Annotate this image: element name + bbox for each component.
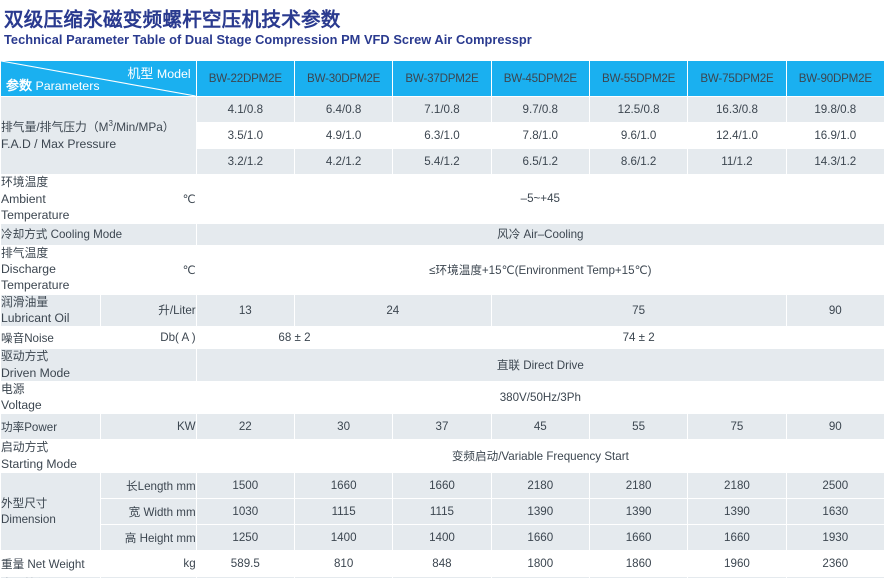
cell-fad-2-3: 6.5/1.2 (491, 149, 589, 175)
row-label-starting-mode: 启动方式 Starting Mode (1, 440, 197, 473)
page-title-zh: 双级压缩永磁变频螺杆空压机技术参数 (4, 3, 341, 32)
table-header-row: 机型 Model 参数 Parameters BW-22DPM2E BW-30D… (1, 61, 885, 97)
cell-discharge-temperature-value: ≤环境温度+15℃(Environment Temp+15℃) (196, 245, 884, 294)
row-label-ambient-temperature-zh: 环境温度 (1, 175, 100, 191)
cell-net-weight-3: 1800 (491, 551, 589, 577)
row-unit-power: KW (101, 414, 196, 440)
cell-fad-0-4: 12.5/0.8 (589, 97, 687, 123)
cell-net-weight-5: 1960 (688, 551, 786, 577)
table-row-dimension-length: 外型尺寸 Dimension 长Length mm 1500 1660 1660… (1, 473, 885, 499)
row-unit-discharge-temperature: ℃ (101, 245, 196, 294)
cell-width-6: 1630 (786, 499, 884, 525)
cell-height-5: 1660 (688, 525, 786, 551)
table-row-net-weight: 重量 Net Weight kg 589.5 810 848 1800 1860… (1, 551, 885, 577)
cell-cooling-mode-value: 风冷 Air–Cooling (196, 223, 884, 245)
header-corner-cell: 机型 Model 参数 Parameters (1, 61, 197, 97)
header-model-bw-37dpm2e: BW-37DPM2E (393, 61, 491, 97)
cell-fad-1-6: 16.9/1.0 (786, 123, 884, 149)
row-label-net-weight: 重量 Net Weight (1, 551, 101, 577)
table-row-fad-1: 排气量/排气压力（M3/Min/MPa） F.A.D / Max Pressur… (1, 97, 885, 123)
cell-length-0: 1500 (196, 473, 294, 499)
row-sublabel-length: 长Length mm (101, 473, 196, 499)
cell-power-3: 45 (491, 414, 589, 440)
cell-fad-1-0: 3.5/1.0 (196, 123, 294, 149)
row-label-starting-mode-en: Starting Mode (1, 456, 196, 472)
cell-lubricant-oil-1: 24 (294, 294, 491, 327)
cell-length-6: 2500 (786, 473, 884, 499)
cell-net-weight-6: 2360 (786, 551, 884, 577)
cell-length-3: 2180 (491, 473, 589, 499)
row-unit-net-weight: kg (101, 551, 196, 577)
header-model-bw-30dpm2e: BW-30DPM2E (294, 61, 392, 97)
cell-fad-0-0: 4.1/0.8 (196, 97, 294, 123)
cell-net-weight-1: 810 (294, 551, 392, 577)
cell-ambient-temperature-value: –5~+45 (196, 175, 884, 224)
row-label-fad-zh: 排气量/排气压力（M3/Min/MPa） (1, 119, 196, 135)
cell-height-6: 1930 (786, 525, 884, 551)
cell-power-4: 55 (589, 414, 687, 440)
table-row-noise: 噪音Noise Db( A ) 68 ± 2 74 ± 2 (1, 327, 885, 349)
cell-net-weight-2: 848 (393, 551, 491, 577)
cell-noise-0: 68 ± 2 (196, 327, 393, 349)
row-label-dimension-en: Dimension (1, 512, 100, 528)
row-label-lubricant-oil-zh: 润滑油量 (1, 295, 100, 311)
row-unit-ambient-temperature: ℃ (101, 175, 196, 224)
cell-width-2: 1115 (393, 499, 491, 525)
cell-power-0: 22 (196, 414, 294, 440)
row-label-starting-mode-zh: 启动方式 (1, 440, 196, 456)
table-row-dimension-width: 宽 Width mm 1030 1115 1115 1390 1390 1390… (1, 499, 885, 525)
row-label-ambient-temperature: 环境温度 Ambient Temperature (1, 175, 101, 224)
cell-lubricant-oil-0: 13 (196, 294, 294, 327)
row-sublabel-height: 高 Height mm (101, 525, 196, 551)
cell-power-2: 37 (393, 414, 491, 440)
cell-width-3: 1390 (491, 499, 589, 525)
cell-fad-0-6: 19.8/0.8 (786, 97, 884, 123)
cell-starting-mode-value: 变频启动/Variable Frequency Start (196, 440, 884, 473)
row-label-ambient-temperature-en: Ambient Temperature (1, 191, 100, 223)
cell-fad-2-4: 8.6/1.2 (589, 149, 687, 175)
cell-fad-1-2: 6.3/1.0 (393, 123, 491, 149)
table-row-driven-mode: 驱动方式 Driven Mode 直联 Direct Drive (1, 349, 885, 382)
row-label-power: 功率Power (1, 414, 101, 440)
row-unit-lubricant-oil: 升/Liter (101, 294, 196, 327)
cell-length-5: 2180 (688, 473, 786, 499)
cell-power-6: 90 (786, 414, 884, 440)
cell-length-2: 1660 (393, 473, 491, 499)
header-parameters-label: 参数 Parameters (6, 75, 100, 94)
row-unit-noise: Db( A ) (101, 327, 196, 349)
cell-voltage-value: 380V/50Hz/3Ph (196, 381, 884, 414)
table-row-ambient-temperature: 环境温度 Ambient Temperature ℃ –5~+45 (1, 175, 885, 224)
cell-fad-0-5: 16.3/0.8 (688, 97, 786, 123)
cell-fad-1-1: 4.9/1.0 (294, 123, 392, 149)
row-label-driven-mode: 驱动方式 Driven Mode (1, 349, 197, 382)
cell-length-1: 1660 (294, 473, 392, 499)
cell-fad-2-2: 5.4/1.2 (393, 149, 491, 175)
cell-fad-0-1: 6.4/0.8 (294, 97, 392, 123)
cell-length-4: 2180 (589, 473, 687, 499)
row-label-lubricant-oil: 润滑油量 Lubricant Oil (1, 294, 101, 327)
row-label-driven-mode-en: Driven Mode (1, 365, 196, 381)
cell-net-weight-0: 589.5 (196, 551, 294, 577)
cell-width-0: 1030 (196, 499, 294, 525)
header-model-bw-22dpm2e: BW-22DPM2E (196, 61, 294, 97)
table-row-discharge-temperature: 排气温度 Discharge Temperature ℃ ≤环境温度+15℃(E… (1, 245, 885, 294)
cell-fad-2-0: 3.2/1.2 (196, 149, 294, 175)
row-sublabel-width: 宽 Width mm (101, 499, 196, 525)
cell-width-5: 1390 (688, 499, 786, 525)
cell-height-3: 1660 (491, 525, 589, 551)
row-label-voltage: 电源 Voltage (1, 381, 197, 414)
row-label-cooling-mode: 冷却方式 Cooling Mode (1, 223, 197, 245)
spec-sheet-page: 双级压缩永磁变频螺杆空压机技术参数 Technical Parameter Ta… (0, 0, 885, 578)
row-label-fad-en: F.A.D / Max Pressure (1, 136, 196, 152)
cell-height-4: 1660 (589, 525, 687, 551)
cell-fad-0-3: 9.7/0.8 (491, 97, 589, 123)
row-label-discharge-temperature-en: Discharge Temperature (1, 261, 100, 293)
row-label-voltage-en: Voltage (1, 397, 196, 413)
cell-noise-1: 74 ± 2 (393, 327, 885, 349)
table-row-voltage: 电源 Voltage 380V/50Hz/3Ph (1, 381, 885, 414)
cell-power-1: 30 (294, 414, 392, 440)
table-row-cooling-mode: 冷却方式 Cooling Mode 风冷 Air–Cooling (1, 223, 885, 245)
row-label-voltage-zh: 电源 (1, 382, 196, 398)
cell-lubricant-oil-2: 75 (491, 294, 786, 327)
row-label-fad: 排气量/排气压力（M3/Min/MPa） F.A.D / Max Pressur… (1, 97, 197, 175)
cell-height-1: 1400 (294, 525, 392, 551)
row-label-dimension: 外型尺寸 Dimension (1, 473, 101, 551)
cell-net-weight-4: 1860 (589, 551, 687, 577)
table-row-starting-mode: 启动方式 Starting Mode 变频启动/Variable Frequen… (1, 440, 885, 473)
row-label-lubricant-oil-en: Lubricant Oil (1, 310, 100, 326)
table-row-lubricant-oil: 润滑油量 Lubricant Oil 升/Liter 13 24 75 90 (1, 294, 885, 327)
row-label-driven-mode-zh: 驱动方式 (1, 349, 196, 365)
cell-width-4: 1390 (589, 499, 687, 525)
cell-height-2: 1400 (393, 525, 491, 551)
header-model-bw-90dpm2e: BW-90DPM2E (786, 61, 884, 97)
cell-fad-2-1: 4.2/1.2 (294, 149, 392, 175)
header-model-bw-75dpm2e: BW-75DPM2E (688, 61, 786, 97)
table-row-power: 功率Power KW 22 30 37 45 55 75 90 (1, 414, 885, 440)
cell-height-0: 1250 (196, 525, 294, 551)
cell-driven-mode-value: 直联 Direct Drive (196, 349, 884, 382)
row-label-noise: 噪音Noise (1, 327, 101, 349)
cell-fad-2-5: 11/1.2 (688, 149, 786, 175)
cell-fad-2-6: 14.3/1.2 (786, 149, 884, 175)
row-label-discharge-temperature: 排气温度 Discharge Temperature (1, 245, 101, 294)
header-model-bw-55dpm2e: BW-55DPM2E (589, 61, 687, 97)
row-label-discharge-temperature-zh: 排气温度 (1, 246, 100, 262)
header-model-label: 机型 Model (127, 63, 190, 82)
cell-fad-0-2: 7.1/0.8 (393, 97, 491, 123)
cell-fad-1-5: 12.4/1.0 (688, 123, 786, 149)
header-model-bw-45dpm2e: BW-45DPM2E (491, 61, 589, 97)
row-label-dimension-zh: 外型尺寸 (1, 496, 100, 512)
cell-lubricant-oil-3: 90 (786, 294, 884, 327)
cell-fad-1-4: 9.6/1.0 (589, 123, 687, 149)
table-row-dimension-height: 高 Height mm 1250 1400 1400 1660 1660 166… (1, 525, 885, 551)
cell-fad-1-3: 7.8/1.0 (491, 123, 589, 149)
cell-power-5: 75 (688, 414, 786, 440)
page-title-en: Technical Parameter Table of Dual Stage … (4, 32, 532, 47)
cell-width-1: 1115 (294, 499, 392, 525)
technical-parameter-table: 机型 Model 参数 Parameters BW-22DPM2E BW-30D… (0, 60, 885, 578)
